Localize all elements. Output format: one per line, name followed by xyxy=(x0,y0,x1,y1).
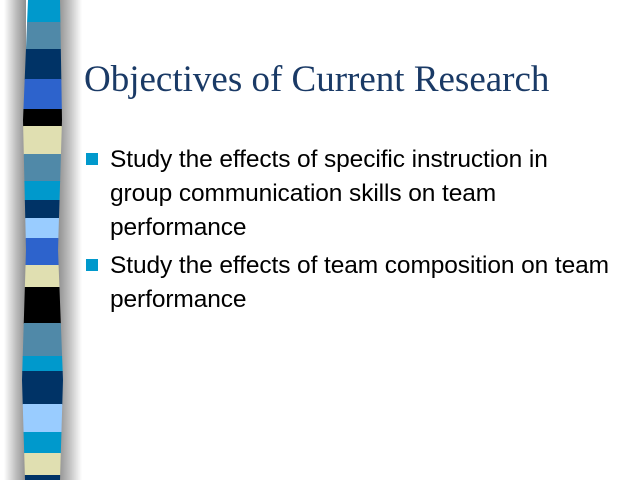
vertical-color-band-stripe xyxy=(0,0,86,480)
page-title: Objectives of Current Research xyxy=(84,58,614,102)
stripe-band xyxy=(17,371,67,405)
stripe-svg xyxy=(0,0,86,480)
stripe-band xyxy=(20,356,70,372)
square-bullet-icon xyxy=(86,259,98,271)
list-item: Study the effects of specific instructio… xyxy=(86,143,616,245)
presentation-slide: Objectives of Current Research Study the… xyxy=(0,0,640,480)
stripe-shadow-left xyxy=(4,0,26,480)
stripe-band xyxy=(18,109,68,127)
stripe-band xyxy=(18,404,68,433)
square-bullet-icon xyxy=(86,153,98,165)
bullet-list: Study the effects of specific instructio… xyxy=(86,143,616,321)
stripe-band xyxy=(18,323,68,357)
list-item-text: Study the effects of specific instructio… xyxy=(110,143,616,245)
list-item-text: Study the effects of team composition on… xyxy=(110,249,616,317)
list-item: Study the effects of team composition on… xyxy=(86,249,616,317)
